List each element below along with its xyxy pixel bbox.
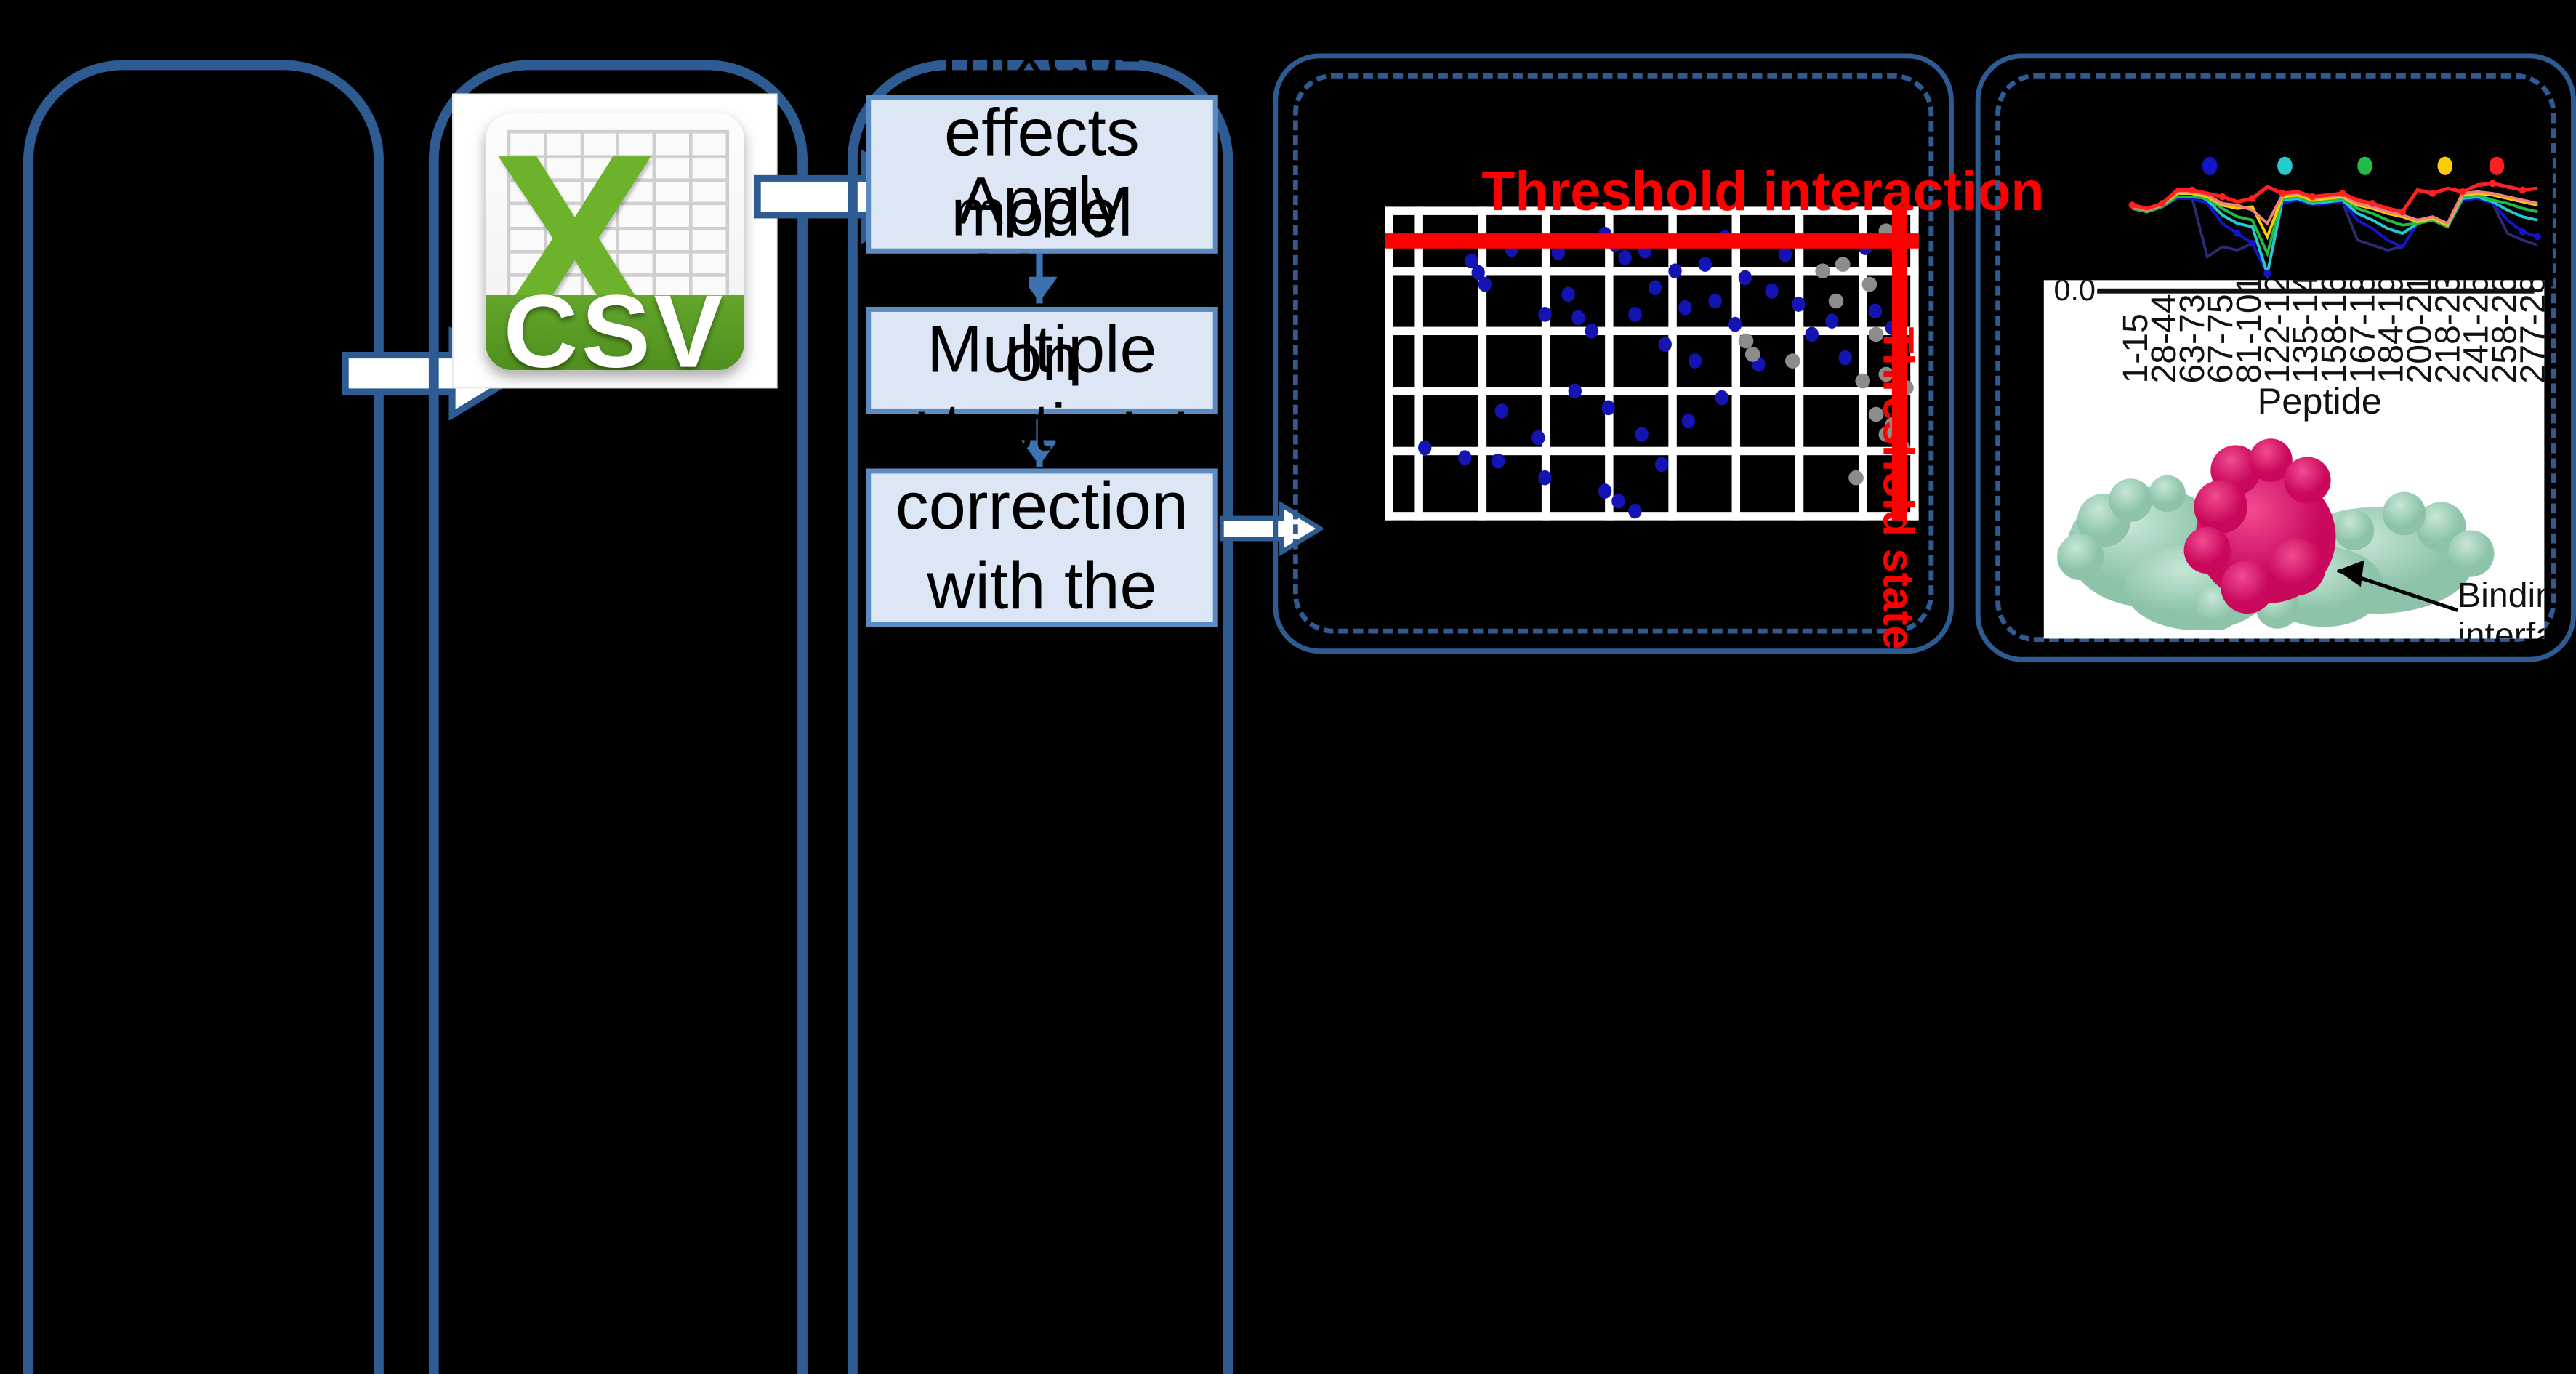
binding-interface-annotation: Binding interface xyxy=(2458,577,2544,639)
panel-input xyxy=(23,60,384,1374)
scatter-point xyxy=(1835,257,1851,272)
scatter-point xyxy=(1829,294,1844,309)
y-tick-label: 0.0 xyxy=(2054,280,2096,308)
x-axis-label: Peptide xyxy=(2258,380,2382,424)
scatter-point xyxy=(1598,483,1611,499)
scatter-point xyxy=(1779,246,1792,262)
step-multiple-testing-text: Multiple testingcorrectionwith the BH pr… xyxy=(887,312,1196,784)
scatter-point xyxy=(1458,450,1471,465)
scatter-point xyxy=(1728,317,1742,332)
scatter-point xyxy=(1815,263,1830,278)
structure-figure: 0.0 1-15 28-44 63-73 67-75 81-101 122-12… xyxy=(2044,280,2545,638)
scatter-point xyxy=(1855,374,1870,389)
scatter-point xyxy=(1561,287,1574,302)
threshold-interaction-line xyxy=(1385,233,1919,249)
scatter-point xyxy=(1678,300,1691,316)
csv-tile: X CSV xyxy=(486,113,744,369)
scatter-point xyxy=(1538,307,1551,322)
scatter-point xyxy=(1538,470,1551,486)
scatter-point xyxy=(1745,347,1760,362)
scatter-point xyxy=(1668,263,1681,278)
scatter-point xyxy=(1806,327,1819,342)
scatter-point xyxy=(1635,427,1648,442)
scatter-point xyxy=(1531,430,1545,446)
scatter-point xyxy=(1628,504,1641,519)
scatter-point xyxy=(1628,307,1641,322)
excel-x-icon: X xyxy=(491,123,600,272)
scatter-point xyxy=(1785,353,1800,369)
scatter-point xyxy=(1585,324,1598,339)
scatter-point xyxy=(1715,390,1728,406)
scatter-point xyxy=(1418,441,1431,456)
threshold-interaction-label: Threshold interaction xyxy=(1481,160,2044,223)
scatter-point xyxy=(1838,350,1851,366)
scatter-point xyxy=(1792,297,1805,312)
scatter-point xyxy=(1649,280,1662,295)
scatter-point xyxy=(1655,457,1668,472)
peptide-line-chart xyxy=(2052,153,2553,286)
scatter-point xyxy=(1495,403,1508,419)
scatter-point xyxy=(1618,250,1631,265)
scatter-point xyxy=(1708,294,1721,309)
scatter-point xyxy=(1478,277,1492,292)
scatter-point xyxy=(1569,384,1582,399)
scatter-point xyxy=(1602,400,1615,415)
scatter-point xyxy=(1848,470,1864,486)
scatter-point xyxy=(1492,454,1505,469)
step-multiple-testing: Multiple testingcorrectionwith the BH pr… xyxy=(866,469,1217,627)
scatter-point xyxy=(1611,494,1625,509)
scatter-point xyxy=(1862,277,1877,292)
scatter-point xyxy=(1739,270,1752,286)
scatter-plot xyxy=(1385,206,1919,520)
scatter-point xyxy=(1571,310,1585,326)
x-tick-label: 277-284 xyxy=(2514,280,2544,383)
scatter-point xyxy=(1825,313,1838,329)
scatter-point xyxy=(1869,303,1882,318)
scatter-point xyxy=(1659,337,1672,352)
scatter-gridlines xyxy=(1385,206,1919,520)
scatter-point xyxy=(1699,257,1712,272)
scatter-point xyxy=(1682,414,1695,429)
csv-format-label: CSV xyxy=(486,295,744,369)
binding-interface-line1: Binding xyxy=(2458,577,2544,616)
scatter-point xyxy=(1765,284,1778,299)
peptide-series-svg xyxy=(2052,153,2553,286)
threshold-state-label: Threshold state xyxy=(1872,327,1923,650)
csv-file-icon: X CSV xyxy=(454,95,776,387)
flowchart-canvas: X CSV Fit a linear mixed-effects model w… xyxy=(0,0,2576,687)
scatter-point xyxy=(1689,353,1702,369)
binding-interface-line2: interface xyxy=(2458,616,2544,639)
